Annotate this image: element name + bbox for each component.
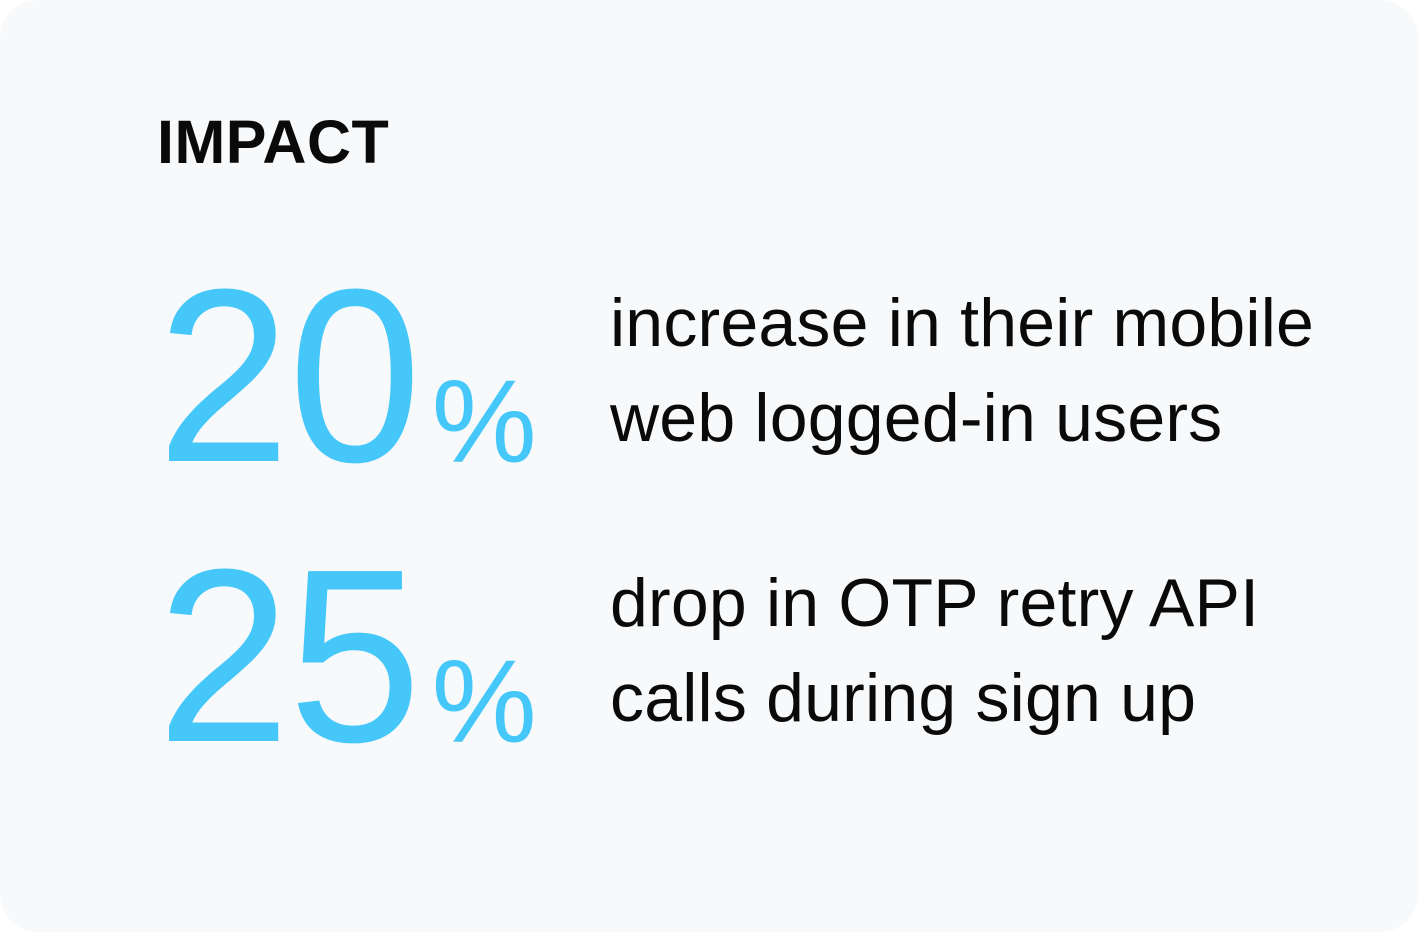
stat-row: 20 % increase in their mobile web logged… <box>157 268 1297 468</box>
stat-description-line: increase in their mobile <box>610 276 1300 371</box>
impact-card: IMPACT 20 % increase in their mobile web… <box>0 0 1418 932</box>
stat-row: 25 % drop in OTP retry API calls during … <box>157 548 1297 748</box>
stat-figure: 25 % <box>157 548 577 748</box>
stat-value: 20 <box>157 285 420 468</box>
stat-description: drop in OTP retry API calls during sign … <box>610 556 1300 746</box>
screenshot-canvas: IMPACT 20 % increase in their mobile web… <box>0 0 1418 932</box>
stat-description: increase in their mobile web logged-in u… <box>610 276 1300 466</box>
impact-stats-list: 20 % increase in their mobile web logged… <box>0 0 1418 932</box>
stat-description-line: calls during sign up <box>610 651 1300 746</box>
stat-description-line: web logged-in users <box>610 371 1300 466</box>
stat-description-line: drop in OTP retry API <box>610 556 1300 651</box>
stat-figure: 20 % <box>157 268 577 468</box>
stat-value: 25 <box>157 565 420 748</box>
percent-sign-icon: % <box>432 659 537 746</box>
percent-sign-icon: % <box>432 379 537 466</box>
